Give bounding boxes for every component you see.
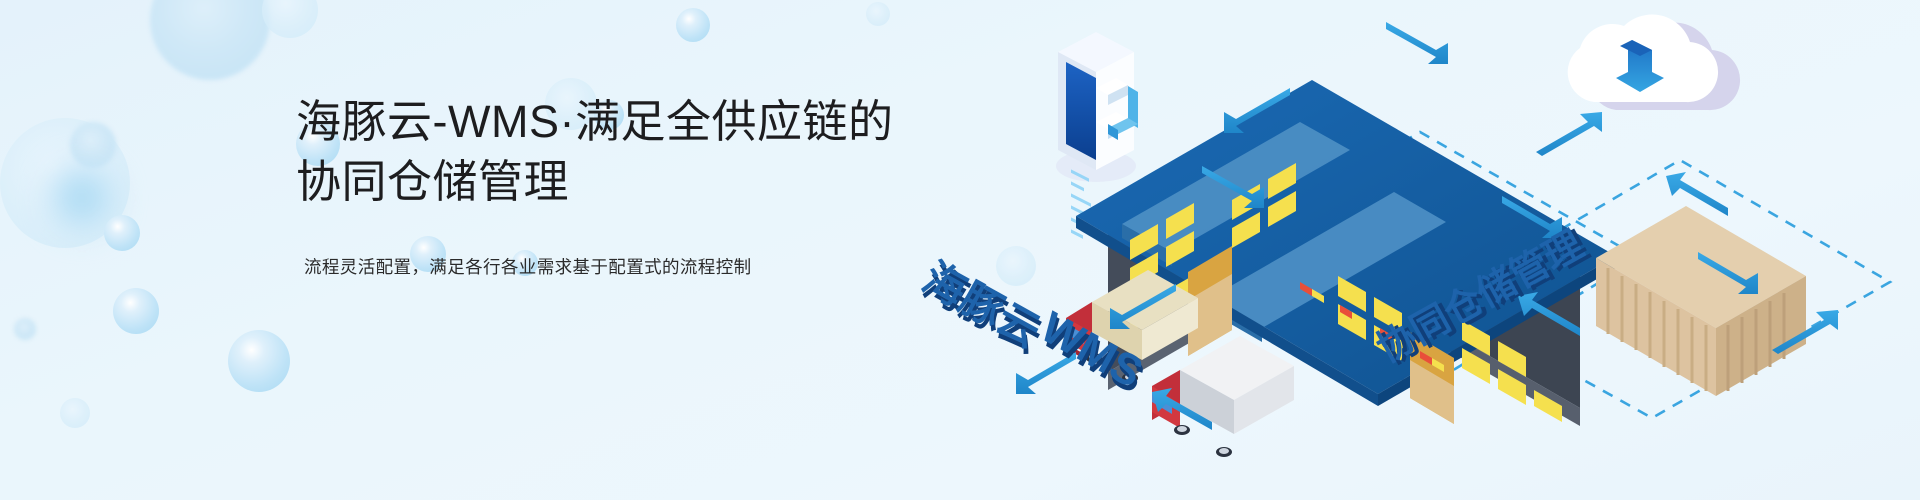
bubble (262, 0, 318, 38)
bubble (104, 215, 140, 251)
bubble (150, 0, 270, 80)
bubble (70, 122, 116, 168)
svg-text:海豚云: 海豚云 (915, 253, 1048, 355)
bubble (228, 330, 290, 392)
hero-banner: 海豚云-WMS·满足全供应链的 协同仓储管理 流程灵活配置，满足各行各业需求基于… (0, 0, 1920, 500)
hero-copy: 海豚云-WMS·满足全供应链的 协同仓储管理 流程灵活配置，满足各行各业需求基于… (296, 92, 896, 279)
bubble (14, 318, 36, 340)
hero-illustration: 海豚云 海豚云 WMS WMS 协同仓储管理 协同仓储管理 (880, 0, 1920, 500)
page-subtitle: 流程灵活配置，满足各行各业需求基于配置式的流程控制 (304, 254, 896, 279)
bubble (60, 398, 90, 428)
bubble (676, 8, 710, 42)
page-title: 海豚云-WMS·满足全供应链的 协同仓储管理 (296, 92, 896, 212)
bubble (113, 288, 159, 334)
cloud-download-icon (1568, 15, 1740, 111)
shipping-container (1596, 206, 1806, 396)
bubble (0, 118, 130, 248)
white-truck (1152, 336, 1294, 457)
bubble (47, 163, 117, 233)
label-brand: 海豚云 海豚云 (913, 253, 1051, 361)
